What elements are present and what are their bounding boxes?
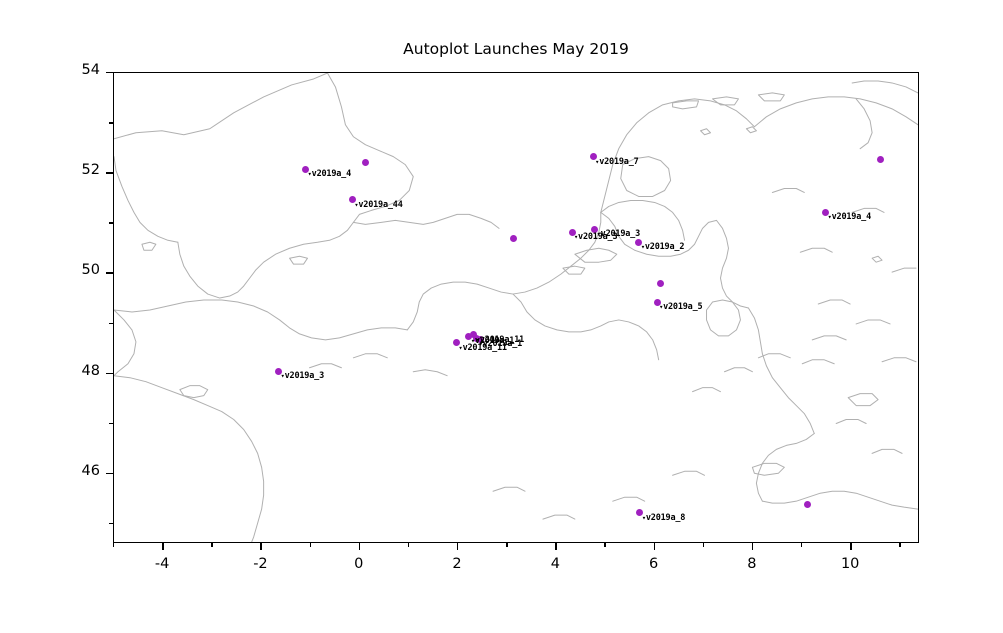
data-point [657, 280, 664, 287]
data-point [804, 501, 811, 508]
data-point-label-text: v2019a_2 [645, 242, 684, 252]
x-axis-tick-minor [408, 543, 409, 547]
data-point [510, 235, 517, 242]
data-point-label-text: v2019a_3 [285, 371, 324, 381]
data-point-label: ▾v2019a_3 [281, 371, 324, 381]
x-axis-tick-minor [113, 543, 114, 547]
data-point-label: ▾v2019a_7 [595, 157, 638, 167]
y-axis-tick-label: 52 [42, 162, 100, 178]
data-point-label-text: v2019a_7 [599, 157, 638, 167]
y-axis-tick-major [106, 172, 113, 173]
x-axis-tick-minor [801, 543, 802, 547]
x-axis-tick-major [752, 543, 753, 550]
x-axis-tick-label: 2 [427, 556, 487, 572]
x-axis-tick-label: 4 [525, 556, 585, 572]
x-axis-tick-label: -2 [230, 556, 290, 572]
data-point-label: ▾v2019a_2 [641, 242, 684, 252]
x-axis-tick-minor [506, 543, 507, 547]
x-axis-tick-minor [703, 543, 704, 547]
data-point-label-text: v2019a_11 [463, 343, 507, 353]
page-title: Autoplot Launches May 2019 [113, 40, 919, 58]
x-axis-tick-label: -4 [132, 556, 192, 572]
data-point [877, 156, 884, 163]
y-axis-tick-major [106, 473, 113, 474]
data-point-label: ▾v2019a_4 [828, 212, 871, 222]
data-point-label: ▾v2019a_5 [659, 302, 702, 312]
y-axis-tick-minor [109, 423, 113, 424]
x-axis-tick-minor [899, 543, 900, 547]
y-axis-tick-major [106, 373, 113, 374]
x-axis-tick-label: 6 [624, 556, 684, 572]
figure-canvas: Autoplot Launches May 2019 [0, 0, 1003, 633]
plot-area[interactable]: ▾v2019a_4▾v2019a_44▾v2019a_7▾v2019a_4▾v2… [113, 72, 919, 543]
y-axis-tick-major [106, 72, 113, 73]
x-axis-tick-major [162, 543, 163, 550]
x-axis-tick-major [555, 543, 556, 550]
y-axis-tick-label: 48 [42, 363, 100, 379]
x-axis-tick-major [260, 543, 261, 550]
data-point-label-text: v2019a_4 [832, 212, 871, 222]
y-axis-tick-major [106, 272, 113, 273]
y-axis-tick-minor [109, 523, 113, 524]
data-point-label: ▾v2019a_11 [459, 343, 507, 353]
data-point-label: ▾v2019a_44 [354, 200, 402, 210]
x-axis-tick-major [359, 543, 360, 550]
y-axis-tick-label: 50 [42, 262, 100, 278]
data-point-label: ▾v2019a_4 [308, 169, 351, 179]
x-axis-tick-label: 8 [722, 556, 782, 572]
y-axis-tick-minor [109, 122, 113, 123]
x-axis-tick-minor [310, 543, 311, 547]
x-axis-tick-label: 10 [820, 556, 880, 572]
x-axis-tick-major [654, 543, 655, 550]
data-point-label: ▾v2019a_8 [642, 513, 685, 523]
y-axis-tick-label: 46 [42, 463, 100, 479]
x-axis-tick-minor [211, 543, 212, 547]
x-axis-tick-major [457, 543, 458, 550]
x-axis-tick-label: 0 [329, 556, 389, 572]
x-axis-tick-major [850, 543, 851, 550]
data-point-label-text: v2019a_4 [312, 169, 351, 179]
data-point-label-text: v2019a_5 [663, 302, 702, 312]
data-point-label: ▾v2019a_3 [597, 229, 640, 239]
y-axis-tick-minor [109, 222, 113, 223]
data-point-label-text: v2019a_3 [601, 229, 640, 239]
data-point-label-text: v2019a_8 [646, 513, 685, 523]
y-axis-tick-label: 54 [42, 62, 100, 78]
data-point-label-text: v2019a_44 [358, 200, 402, 210]
scatter-data-layer: ▾v2019a_4▾v2019a_44▾v2019a_7▾v2019a_4▾v2… [114, 73, 918, 542]
data-point [362, 159, 369, 166]
x-axis-tick-minor [604, 543, 605, 547]
y-axis-tick-minor [109, 323, 113, 324]
